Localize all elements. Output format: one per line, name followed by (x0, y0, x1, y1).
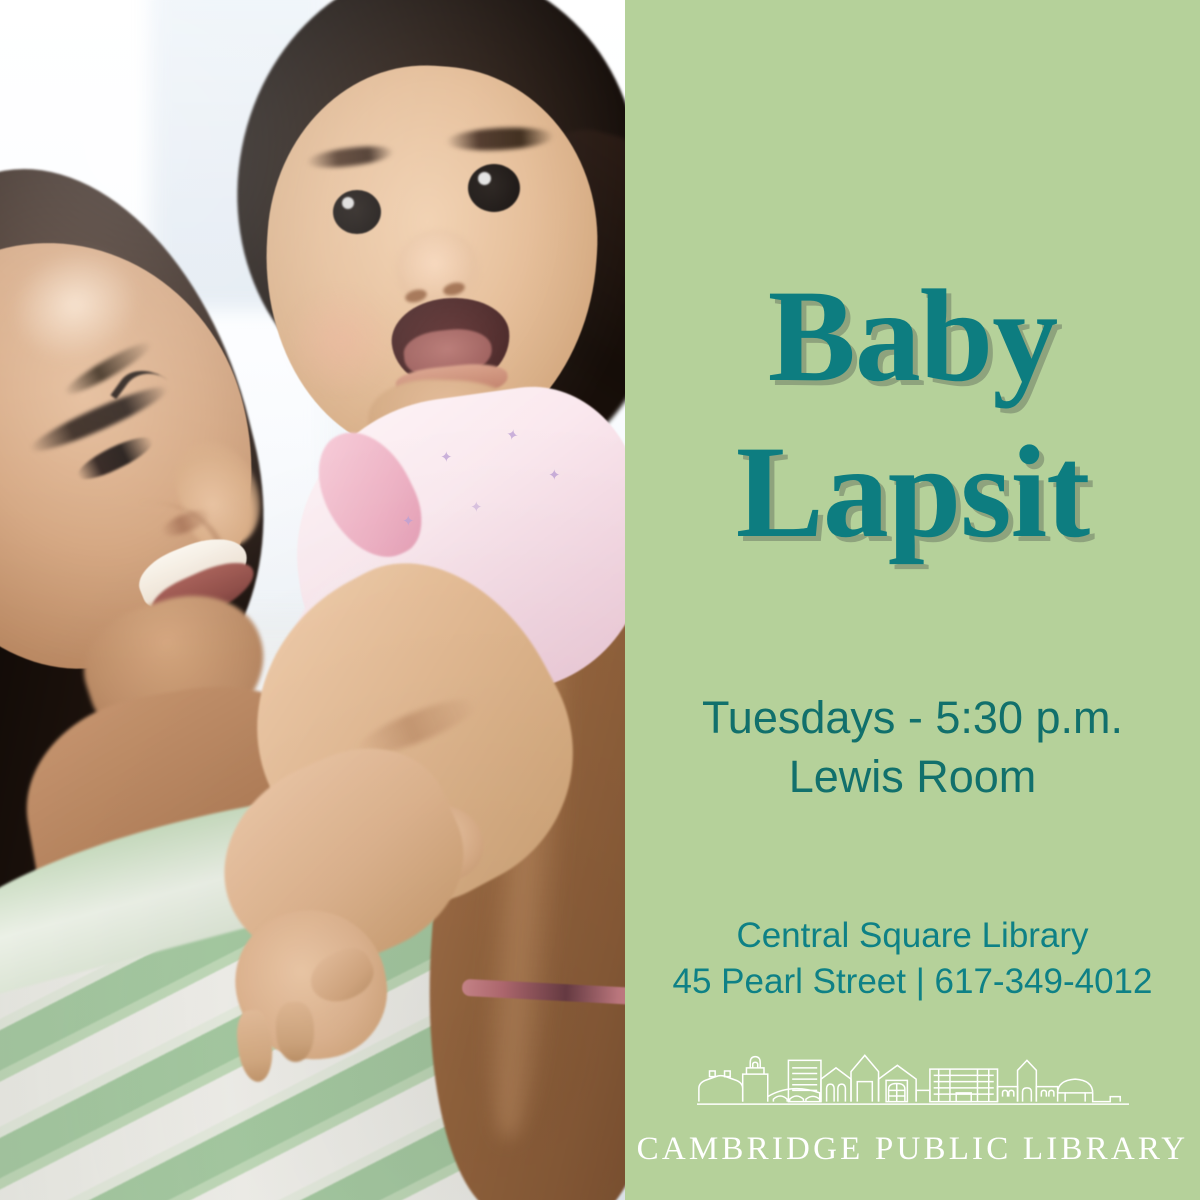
city-skyline-icon (697, 1038, 1129, 1124)
library-logo: CAMBRIDGE PUBLIC LIBRARY (625, 1038, 1200, 1168)
location-branch-name: Central Square Library (625, 913, 1200, 959)
poster-title: Baby Lapsit (625, 258, 1200, 570)
baby-top-star-icon: ✦ (548, 466, 561, 484)
schedule-block: Tuesdays - 5:30 p.m. Lewis Room (625, 688, 1200, 807)
baby-top-star-icon: ✦ (470, 498, 483, 516)
location-block: Central Square Library 45 Pearl Street |… (625, 913, 1200, 1004)
baby-eye-right (468, 164, 520, 212)
baby-eye-left (333, 190, 381, 234)
logo-wordmark: CAMBRIDGE PUBLIC LIBRARY (625, 1131, 1200, 1168)
location-address-phone: 45 Pearl Street | 617-349-4012 (625, 959, 1200, 1005)
schedule-day-time: Tuesdays - 5:30 p.m. (625, 688, 1200, 747)
info-panel: Baby Lapsit Tuesdays - 5:30 p.m. Lewis R… (625, 0, 1200, 1200)
title-line-2: Lapsit (625, 414, 1200, 570)
title-line-1: Baby (625, 258, 1200, 414)
baby-top-star-icon: ✦ (440, 448, 453, 466)
schedule-room: Lewis Room (625, 747, 1200, 806)
poster: ✦ ✦ ✦ ✦ ✦ ✦ ✦ Baby Lapsit Tuesdays - 5:3… (0, 0, 1200, 1200)
baby-top-star-icon: ✦ (402, 512, 415, 530)
photo-panel: ✦ ✦ ✦ ✦ ✦ ✦ ✦ (0, 0, 625, 1200)
baby-cheek (286, 286, 396, 396)
